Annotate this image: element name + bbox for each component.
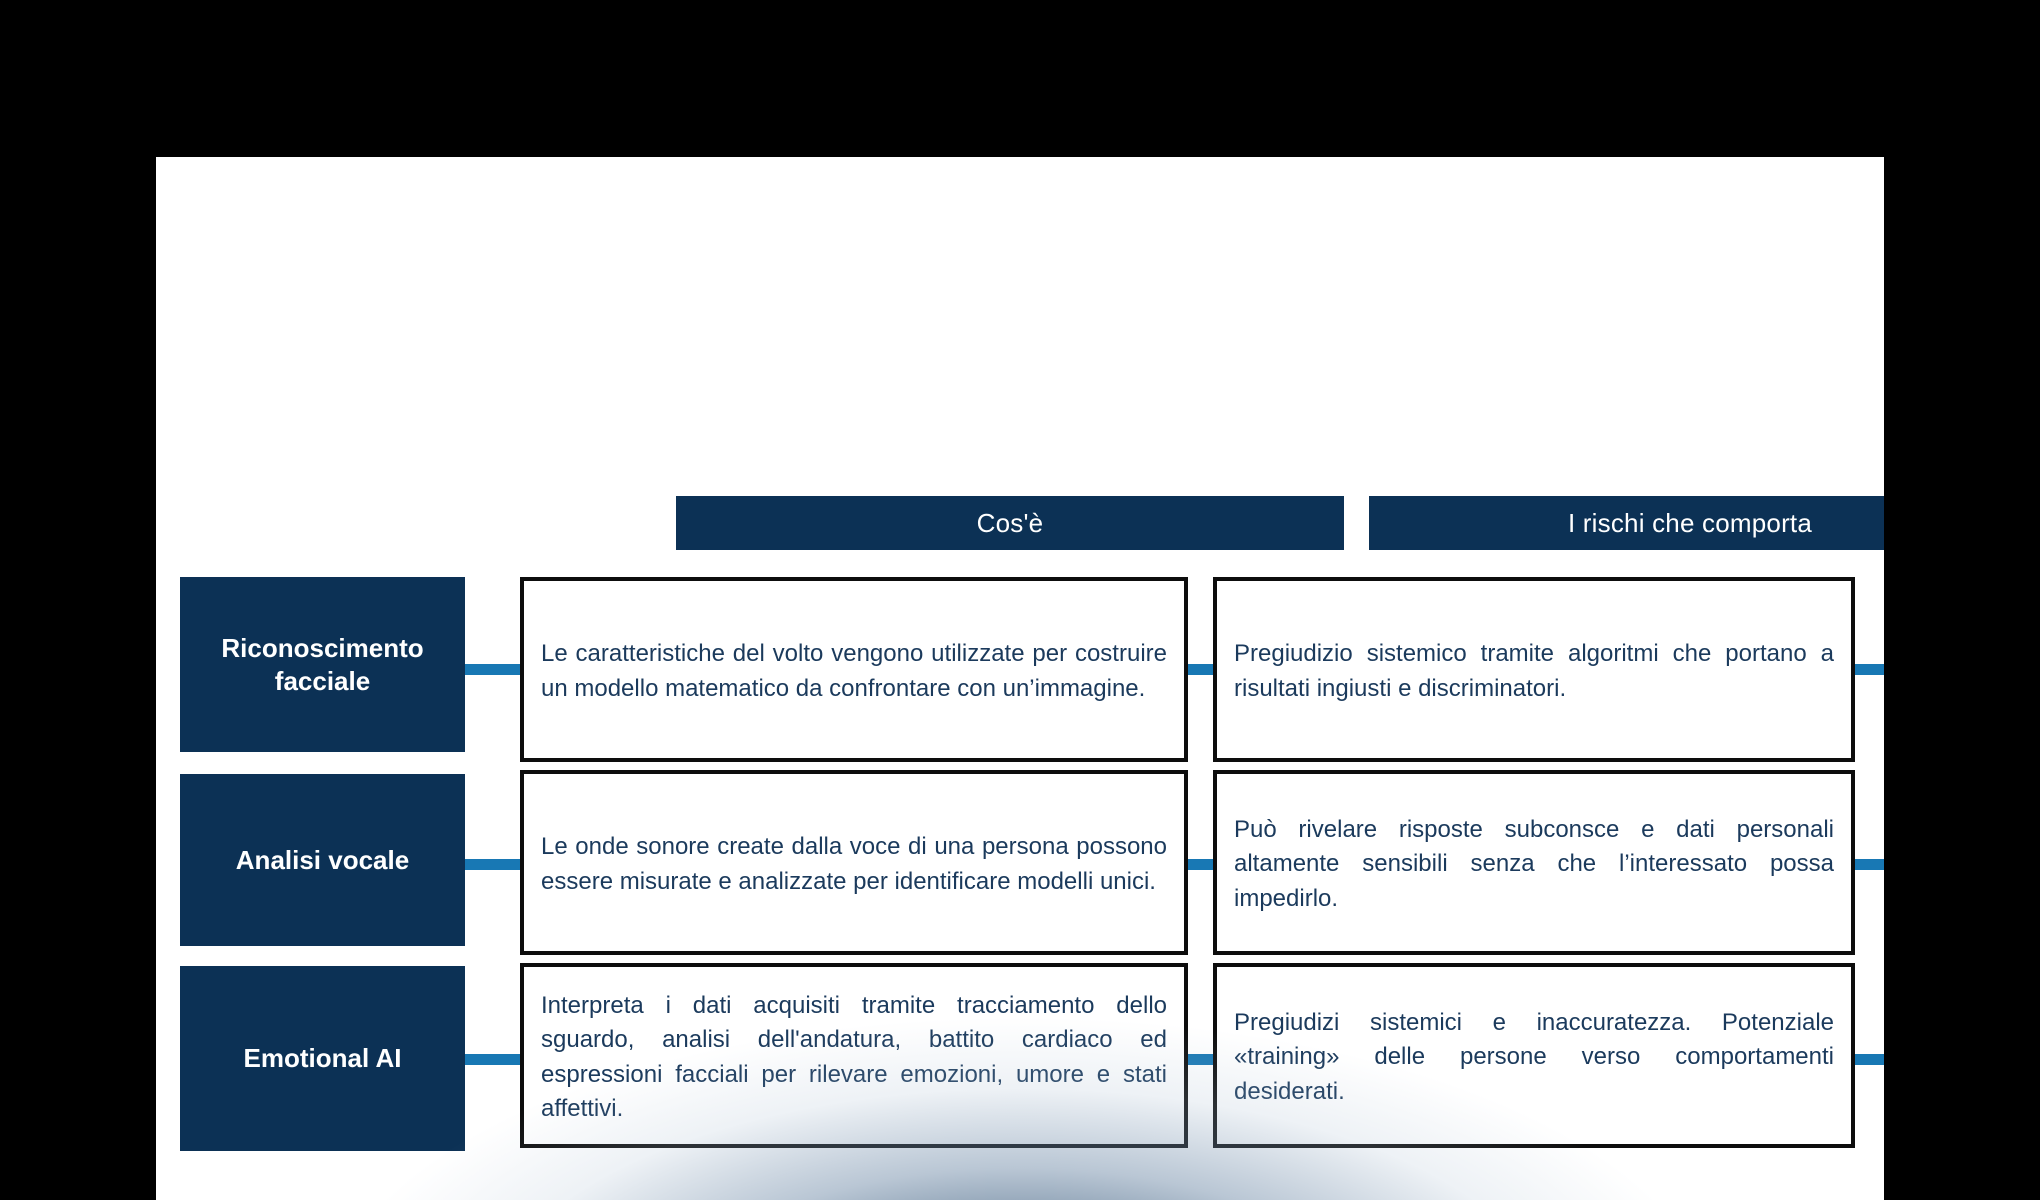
row-description-what-3: Interpreta i dati acquisiti tramite trac… — [520, 963, 1188, 1148]
connector-mid-row-3 — [465, 1054, 520, 1065]
slide-backdrop: Cos'è I rischi che comporta Riconoscimen… — [0, 0, 2040, 1200]
row-description-risk-3: Pregiudizi sistemici e inaccuratezza. Po… — [1213, 963, 1855, 1148]
connector-tail-row-2 — [1855, 859, 1884, 870]
row-description-what-1: Le caratteristiche del volto vengono uti… — [520, 577, 1188, 762]
row-description-what-text: Le caratteristiche del volto vengono uti… — [541, 637, 1167, 705]
row-label-riconoscimento-facciale[interactable]: Riconoscimento facciale — [180, 577, 465, 752]
connector-mid-row-2 — [465, 859, 520, 870]
connector-mid-row-1 — [465, 664, 520, 675]
row-description-what-text: Le onde sonore create dalla voce di una … — [541, 830, 1167, 898]
row-label-text: Analisi vocale — [236, 844, 409, 877]
row-description-risk-2: Può rivelare risposte subconsce e dati p… — [1213, 770, 1855, 955]
slide-canvas: Cos'è I rischi che comporta Riconoscimen… — [156, 157, 1884, 1200]
row-description-what-text: Interpreta i dati acquisiti tramite trac… — [541, 989, 1167, 1125]
row-description-risk-text: Pregiudizio sistemico tramite algoritmi … — [1234, 637, 1834, 705]
column-header-risks: I rischi che comporta — [1369, 496, 1884, 550]
row-description-what-2: Le onde sonore create dalla voce di una … — [520, 770, 1188, 955]
row-description-risk-text: Può rivelare risposte subconsce e dati p… — [1234, 813, 1834, 915]
column-header-what: Cos'è — [676, 496, 1344, 550]
row-label-analisi-vocale[interactable]: Analisi vocale — [180, 774, 465, 946]
connector-tail-row-1 — [1855, 664, 1884, 675]
row-label-text: Riconoscimento facciale — [194, 632, 451, 697]
connector-tail-row-3 — [1855, 1054, 1884, 1065]
row-description-risk-1: Pregiudizio sistemico tramite algoritmi … — [1213, 577, 1855, 762]
row-description-risk-text: Pregiudizi sistemici e inaccuratezza. Po… — [1234, 1006, 1834, 1108]
row-label-emotional-ai[interactable]: Emotional AI — [180, 966, 465, 1151]
row-label-text: Emotional AI — [244, 1042, 402, 1075]
